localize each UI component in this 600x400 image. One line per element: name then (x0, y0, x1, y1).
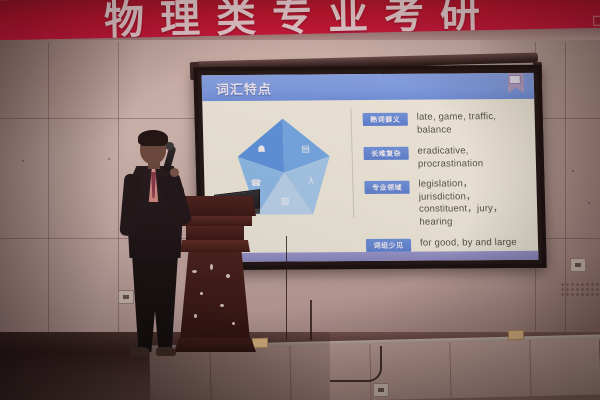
speaker-shoe-right (156, 347, 176, 356)
av-cable (286, 236, 287, 340)
slide-bottom-bar (206, 251, 538, 262)
eyeglasses (141, 145, 165, 151)
wall-vent (560, 282, 600, 298)
av-cable (310, 300, 312, 340)
wall-seam (48, 42, 49, 340)
shopping-cart-icon: ☗ (257, 145, 265, 154)
feature-tag: 长难复杂 (363, 147, 408, 160)
briefcase-icon: ▤ (301, 144, 310, 153)
feature-examples: late, game, traffic, balance (417, 111, 528, 137)
slide-title: 词汇特点 (216, 79, 273, 98)
wall-mark (108, 158, 110, 160)
feature-examples: legislation，jurisdiction，constituent，jur… (418, 178, 529, 229)
apron-seam (529, 340, 531, 396)
list-item: 词组少见 for good, by and large (366, 237, 530, 252)
feature-examples: eradicative, procrastination (417, 145, 528, 171)
list-item: 熟词僻义 late, game, traffic, balance (363, 111, 528, 137)
floor-warning-sign (508, 330, 524, 341)
feature-examples: for good, by and large (420, 237, 517, 250)
floor-outlet[interactable] (373, 383, 389, 397)
lecture-hall: 物理类专业考研 词汇特点 (0, 0, 600, 400)
slide-feature-list: 熟词僻义 late, game, traffic, balance 长难复杂 e… (363, 111, 531, 261)
podium-glint (232, 322, 235, 325)
speaker-legs (132, 254, 178, 352)
bookmark-inner-icon (509, 75, 521, 84)
speaker-shoe-left (130, 347, 150, 356)
speaker-hand (170, 168, 179, 177)
podium-glint (210, 264, 213, 270)
wall-mark (22, 160, 24, 162)
microphone-icon: ⅄ (308, 176, 314, 185)
feature-tag: 专业领域 (364, 181, 409, 194)
list-item: 专业领域 legislation，jurisdiction，constituen… (364, 179, 529, 229)
wall-mark (572, 170, 574, 172)
podium-glint (220, 304, 224, 307)
wall-mark (588, 202, 590, 204)
telephone-icon: ☎ (250, 179, 261, 188)
slide-title-bar: 词汇特点 (202, 73, 535, 101)
speaker (112, 128, 204, 360)
power-cable (330, 346, 382, 382)
photo-scene: 物理类专业考研 词汇特点 (0, 0, 600, 400)
book-icon: ▧ (281, 197, 290, 206)
apron-seam (449, 342, 451, 398)
podium-glint (226, 274, 230, 278)
banner-corner-mark (593, 16, 600, 26)
slide-divider (350, 108, 354, 218)
feature-tag: 熟词僻义 (363, 113, 408, 126)
list-item: 长难复杂 eradicative, procrastination (363, 145, 528, 171)
speaker-hair (138, 130, 168, 146)
wall-outlet[interactable] (570, 258, 586, 272)
floor-warning-sign (252, 338, 268, 349)
feature-tag: 词组少见 (366, 239, 411, 252)
